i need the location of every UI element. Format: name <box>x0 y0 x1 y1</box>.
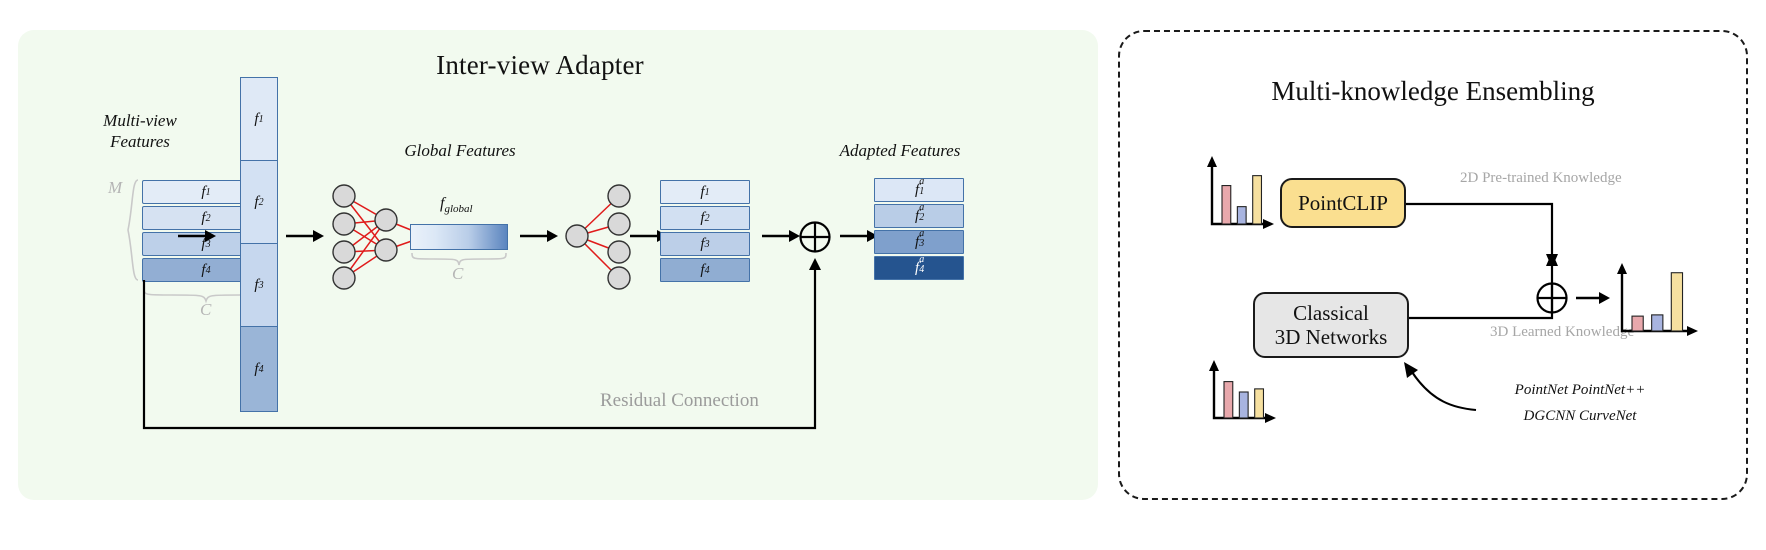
arrow-to-ensemble-output-icon <box>1576 290 1612 306</box>
bar-c1 <box>1632 316 1643 331</box>
adapted-feature-stack: f1a f2a f3a f4a <box>874 178 964 282</box>
chart-pointclip-input <box>1198 148 1276 238</box>
adapted-features-label: Adapted Features <box>790 140 1010 161</box>
concat-segment-2: f2 <box>240 160 278 244</box>
network-names-line2: DGCNN CurveNet <box>1455 404 1705 430</box>
multi-view-features-label-line2: Features <box>50 131 230 152</box>
decoded-box-1: f1 <box>660 180 750 204</box>
adapted-box-4: f4a <box>874 256 964 280</box>
chart-classical3d-input <box>1200 352 1278 432</box>
diagram-root: Inter-view Adapter Multi-view Features M… <box>0 0 1766 550</box>
classical-network-names: PointNet PointNet++ DGCNN CurveNet <box>1455 378 1705 429</box>
classical-3d-label-line1: Classical <box>1293 301 1369 325</box>
global-features-label: Global Features <box>370 140 550 161</box>
right-panel-title: Multi-knowledge Ensembling <box>1118 76 1748 107</box>
multi-view-features-label: Multi-view Features <box>50 110 230 153</box>
bar-c3 <box>1255 389 1264 418</box>
adapted-box-1: f1a <box>874 178 964 202</box>
m-dimension-label: M <box>108 178 122 198</box>
bar-c2 <box>1652 315 1663 331</box>
bar-c3 <box>1253 176 1262 224</box>
bar-c1 <box>1224 382 1233 418</box>
network-names-line1: PointNet PointNet++ <box>1455 378 1705 404</box>
f-global-symbol: fglobal <box>440 195 473 215</box>
bar-c2 <box>1239 392 1248 418</box>
bar-c3 <box>1671 273 1682 331</box>
adapted-box-3: f3a <box>874 230 964 254</box>
pointclip-label: PointCLIP <box>1298 191 1388 215</box>
left-panel-title: Inter-view Adapter <box>0 50 1080 81</box>
ensemble-sum-icon <box>1535 281 1569 315</box>
multi-view-features-label-line1: Multi-view <box>50 110 230 131</box>
f-global-sub: global <box>444 203 472 215</box>
adapted-box-2: f2a <box>874 204 964 228</box>
pointclip-box[interactable]: PointCLIP <box>1280 178 1406 228</box>
classical-3d-networks-box[interactable]: Classical 3D Networks <box>1253 292 1409 358</box>
bar-c2 <box>1237 207 1246 224</box>
decoded-box-2: f2 <box>660 206 750 230</box>
classical-3d-label-line2: 3D Networks <box>1275 325 1388 349</box>
concat-segment-1: f1 <box>240 77 278 161</box>
knowledge-2d-label: 2D Pre-trained Knowledge <box>1460 170 1622 187</box>
bar-c1 <box>1222 186 1231 224</box>
residual-connection-label: Residual Connection <box>600 390 759 412</box>
chart-ensembled-output <box>1608 255 1700 345</box>
